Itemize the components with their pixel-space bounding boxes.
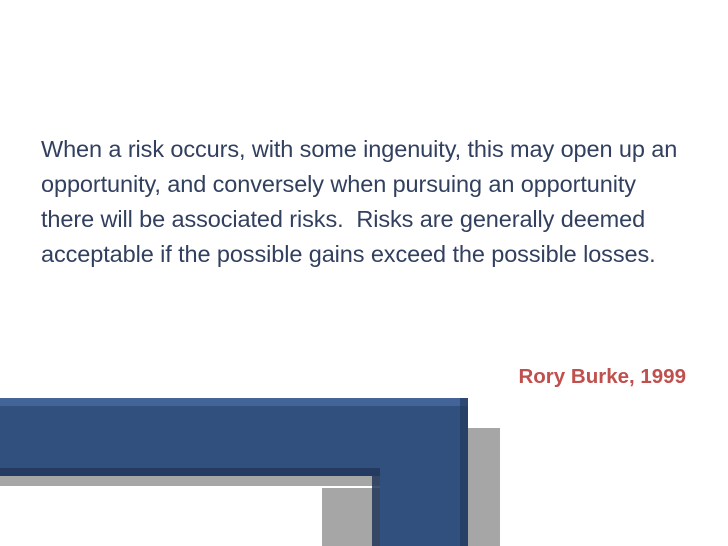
quote-block: When a risk occurs, with some ingenuity,…: [41, 132, 681, 272]
frame-bar: [0, 398, 468, 546]
frame-shadow: [0, 428, 500, 546]
attribution-text: Rory Burke, 1999: [41, 364, 686, 390]
quote-text: When a risk occurs, with some ingenuity,…: [41, 132, 681, 272]
corner-frame-graphic: [0, 376, 500, 546]
slide: When a risk occurs, with some ingenuity,…: [0, 0, 728, 546]
corner-frame-svg: [0, 376, 500, 546]
